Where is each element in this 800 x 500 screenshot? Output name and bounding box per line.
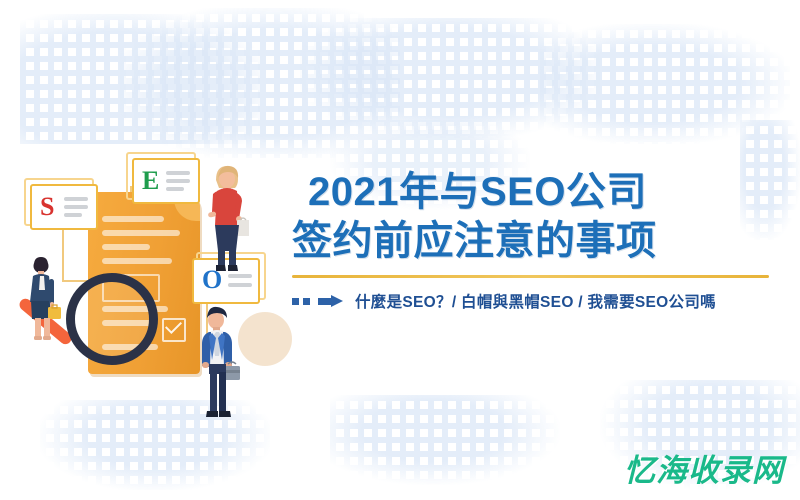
card-line	[166, 179, 190, 183]
document-text-line	[102, 216, 164, 222]
document-text-line	[102, 244, 150, 250]
arrow-right-icon	[318, 295, 344, 307]
document-shade	[238, 312, 292, 366]
checkbox-checked-icon	[162, 318, 186, 342]
card-s: S	[30, 184, 98, 230]
gold-divider-rule	[292, 275, 769, 278]
card-e-glyph: E	[142, 166, 159, 196]
person-woman-red-top	[199, 162, 249, 274]
card-line	[166, 187, 184, 191]
person-woman-navy-suit	[20, 257, 64, 342]
seo-document-illustration: S E O	[0, 140, 285, 430]
seo-banner-image: S E O	[0, 0, 800, 500]
headline-block: 2021年与SEO公司 签约前应注意的事项 什麼是SEO？/ 白帽與黑帽SEO …	[292, 168, 772, 312]
card-line	[64, 197, 88, 201]
card-line	[228, 274, 252, 278]
card-e: E	[132, 158, 200, 204]
card-s-glyph: S	[40, 192, 54, 222]
headline-line-1: 2021年与SEO公司	[308, 168, 772, 217]
card-line	[166, 171, 190, 175]
subtitle-row: 什麼是SEO？/ 白帽與黑帽SEO / 我需要SEO公司嗎	[292, 290, 772, 312]
document-text-line	[102, 258, 172, 264]
marker-square-icon	[292, 298, 299, 305]
marker-square-icon	[303, 298, 310, 305]
document-text-line	[102, 230, 180, 236]
card-line	[64, 213, 82, 217]
subtitle-text: 什麼是SEO？/ 白帽與黑帽SEO / 我需要SEO公司嗎	[355, 290, 716, 312]
magnifying-glass-icon	[66, 273, 158, 365]
card-line	[228, 283, 252, 287]
headline-line-2: 签约前应注意的事项	[292, 217, 772, 266]
watermark-logo: 忆海收录网	[624, 445, 784, 490]
person-man-blue-suit	[190, 306, 244, 420]
card-line	[64, 205, 88, 209]
